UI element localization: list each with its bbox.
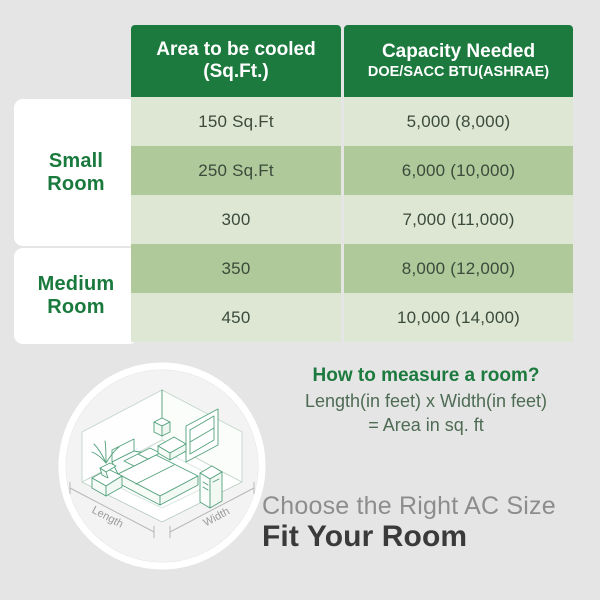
table-header-capacity-label: Capacity Needed xyxy=(382,41,535,63)
room-group-card-small: Small Room xyxy=(14,99,138,246)
room-group-label: Medium Room xyxy=(38,273,115,319)
headline-block: Choose the Right AC Size Fit Your Room xyxy=(262,492,592,554)
cell-capacity: 5,000 (8,000) xyxy=(344,97,573,146)
cell-capacity: 10,000 (14,000) xyxy=(344,293,573,342)
how-to-measure-block: How to measure a room? Length(in feet) x… xyxy=(258,364,594,437)
table-header-area-label: Area to be cooled (Sq.Ft.) xyxy=(156,39,315,83)
room-group-label: Small Room xyxy=(47,150,104,196)
capacity-table: Area to be cooled (Sq.Ft.) Capacity Need… xyxy=(131,25,573,342)
room-illustration: Length Width xyxy=(58,362,266,570)
table-header-area: Area to be cooled (Sq.Ft.) xyxy=(131,25,341,97)
table-row: 350 8,000 (12,000) xyxy=(131,244,573,293)
table-row: 150 Sq.Ft 5,000 (8,000) xyxy=(131,97,573,146)
capacity-table-section: Small Room Medium Room Area to be cooled… xyxy=(0,0,600,352)
room-illustration-svg: Length Width xyxy=(58,362,266,570)
table-header-capacity-sublabel: DOE/SACC BTU(ASHRAE) xyxy=(368,64,549,81)
cell-area: 250 Sq.Ft xyxy=(131,146,341,195)
cell-area: 450 xyxy=(131,293,341,342)
headline-subtitle: Choose the Right AC Size xyxy=(262,492,592,520)
portable-ac-unit xyxy=(200,466,222,508)
table-row: 250 Sq.Ft 6,000 (10,000) xyxy=(131,146,573,195)
cell-capacity: 6,000 (10,000) xyxy=(344,146,573,195)
how-to-measure-formula-line1: Length(in feet) x Width(in feet) xyxy=(258,389,594,413)
room-group-card-medium: Medium Room xyxy=(14,248,138,344)
table-row: 300 7,000 (11,000) xyxy=(131,195,573,244)
how-to-measure-formula-line2: = Area in sq. ft xyxy=(258,413,594,437)
how-to-measure-title: How to measure a room? xyxy=(258,364,594,389)
cell-area: 350 xyxy=(131,244,341,293)
table-header-row: Area to be cooled (Sq.Ft.) Capacity Need… xyxy=(131,25,573,97)
cell-capacity: 8,000 (12,000) xyxy=(344,244,573,293)
table-row: 450 10,000 (14,000) xyxy=(131,293,573,342)
cell-area: 300 xyxy=(131,195,341,244)
cell-capacity: 7,000 (11,000) xyxy=(344,195,573,244)
headline-title: Fit Your Room xyxy=(262,520,592,554)
cell-area: 150 Sq.Ft xyxy=(131,97,341,146)
table-header-capacity: Capacity Needed DOE/SACC BTU(ASHRAE) xyxy=(344,25,573,97)
